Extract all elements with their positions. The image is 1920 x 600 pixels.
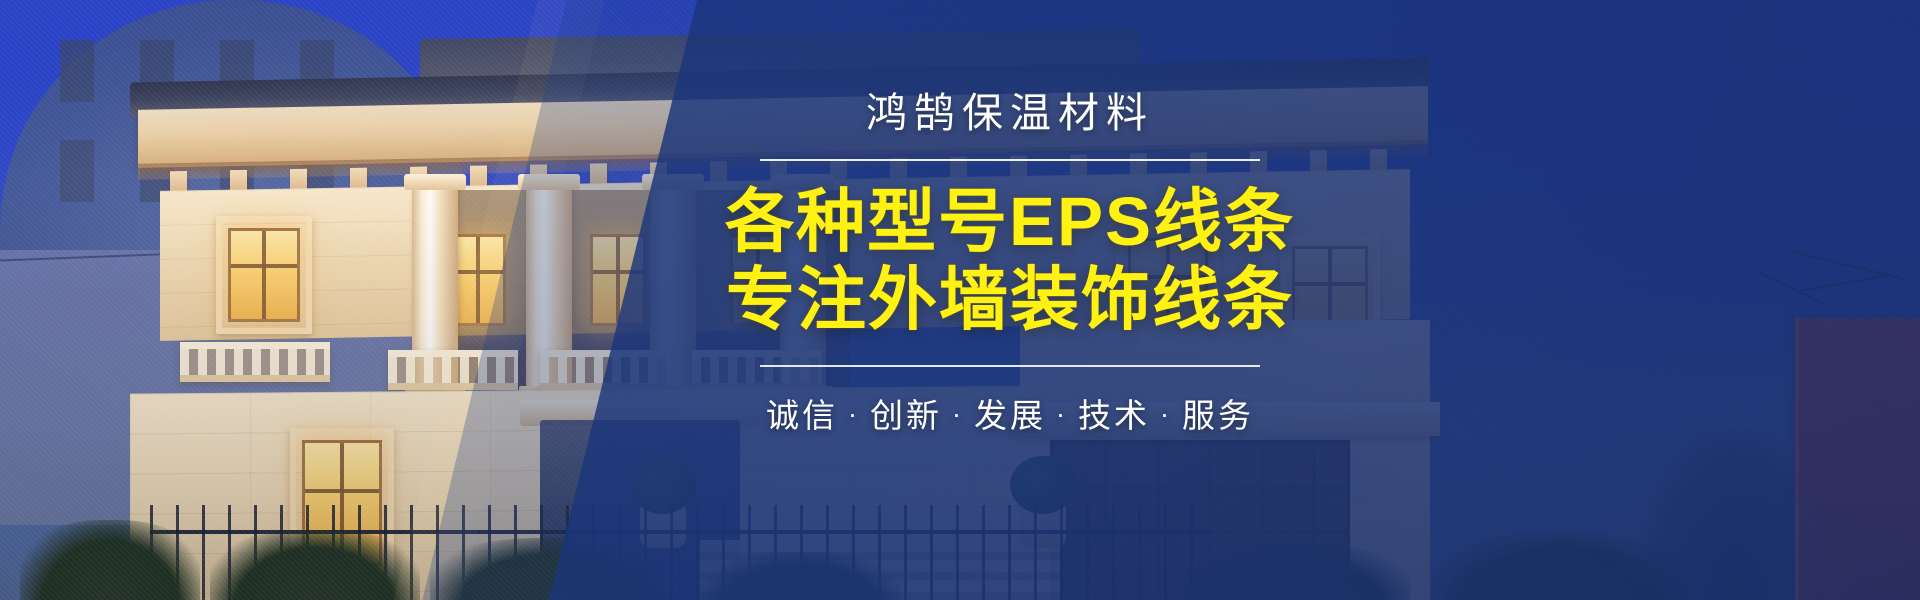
lit-window (450, 234, 506, 326)
foreground-shrub (430, 538, 670, 600)
tagline-separator: · (838, 399, 870, 429)
foreground-shrub (700, 552, 900, 600)
lit-window (228, 228, 300, 322)
distant-window (60, 40, 94, 102)
tagline-item: 创新 (870, 397, 942, 434)
tagline-separator: · (942, 399, 974, 429)
banner-text-block: 鸿鹄保温材料 各种型号EPS线条 专注外墙装饰线条 诚信·创新·发展·技术·服务 (700, 92, 1320, 437)
tagline-separator: · (1046, 399, 1078, 429)
distant-window (60, 140, 94, 202)
tagline-item: 技术 (1078, 397, 1150, 434)
divider-top (760, 159, 1260, 161)
tagline: 诚信·创新·发展·技术·服务 (700, 389, 1320, 437)
tagline-item: 诚信 (766, 397, 838, 434)
tagline-item: 发展 (974, 397, 1046, 434)
lit-window (590, 234, 646, 326)
headline-group: 各种型号EPS线条 专注外墙装饰线条 (700, 183, 1320, 339)
foreground-shrub (210, 530, 420, 600)
balustrade (180, 342, 330, 382)
tagline-item: 服务 (1182, 397, 1254, 434)
balustrade (388, 350, 518, 390)
tagline-separator: · (1150, 399, 1182, 429)
headline-line-1: 各种型号EPS线条 (700, 183, 1320, 261)
red-container (1795, 318, 1920, 600)
foreground-shrub (1180, 544, 1410, 600)
foreground-shrub (20, 520, 200, 600)
promotional-banner: 鸿鹄保温材料 各种型号EPS线条 专注外墙装饰线条 诚信·创新·发展·技术·服务 (0, 0, 1920, 600)
foreground-shrub (1430, 532, 1690, 600)
balustrade (540, 350, 670, 390)
brand-name: 鸿鹄保温材料 (700, 92, 1320, 135)
divider-bottom (760, 365, 1260, 367)
tree-branch (1790, 250, 1907, 281)
headline-line-2: 专注外墙装饰线条 (700, 261, 1320, 339)
